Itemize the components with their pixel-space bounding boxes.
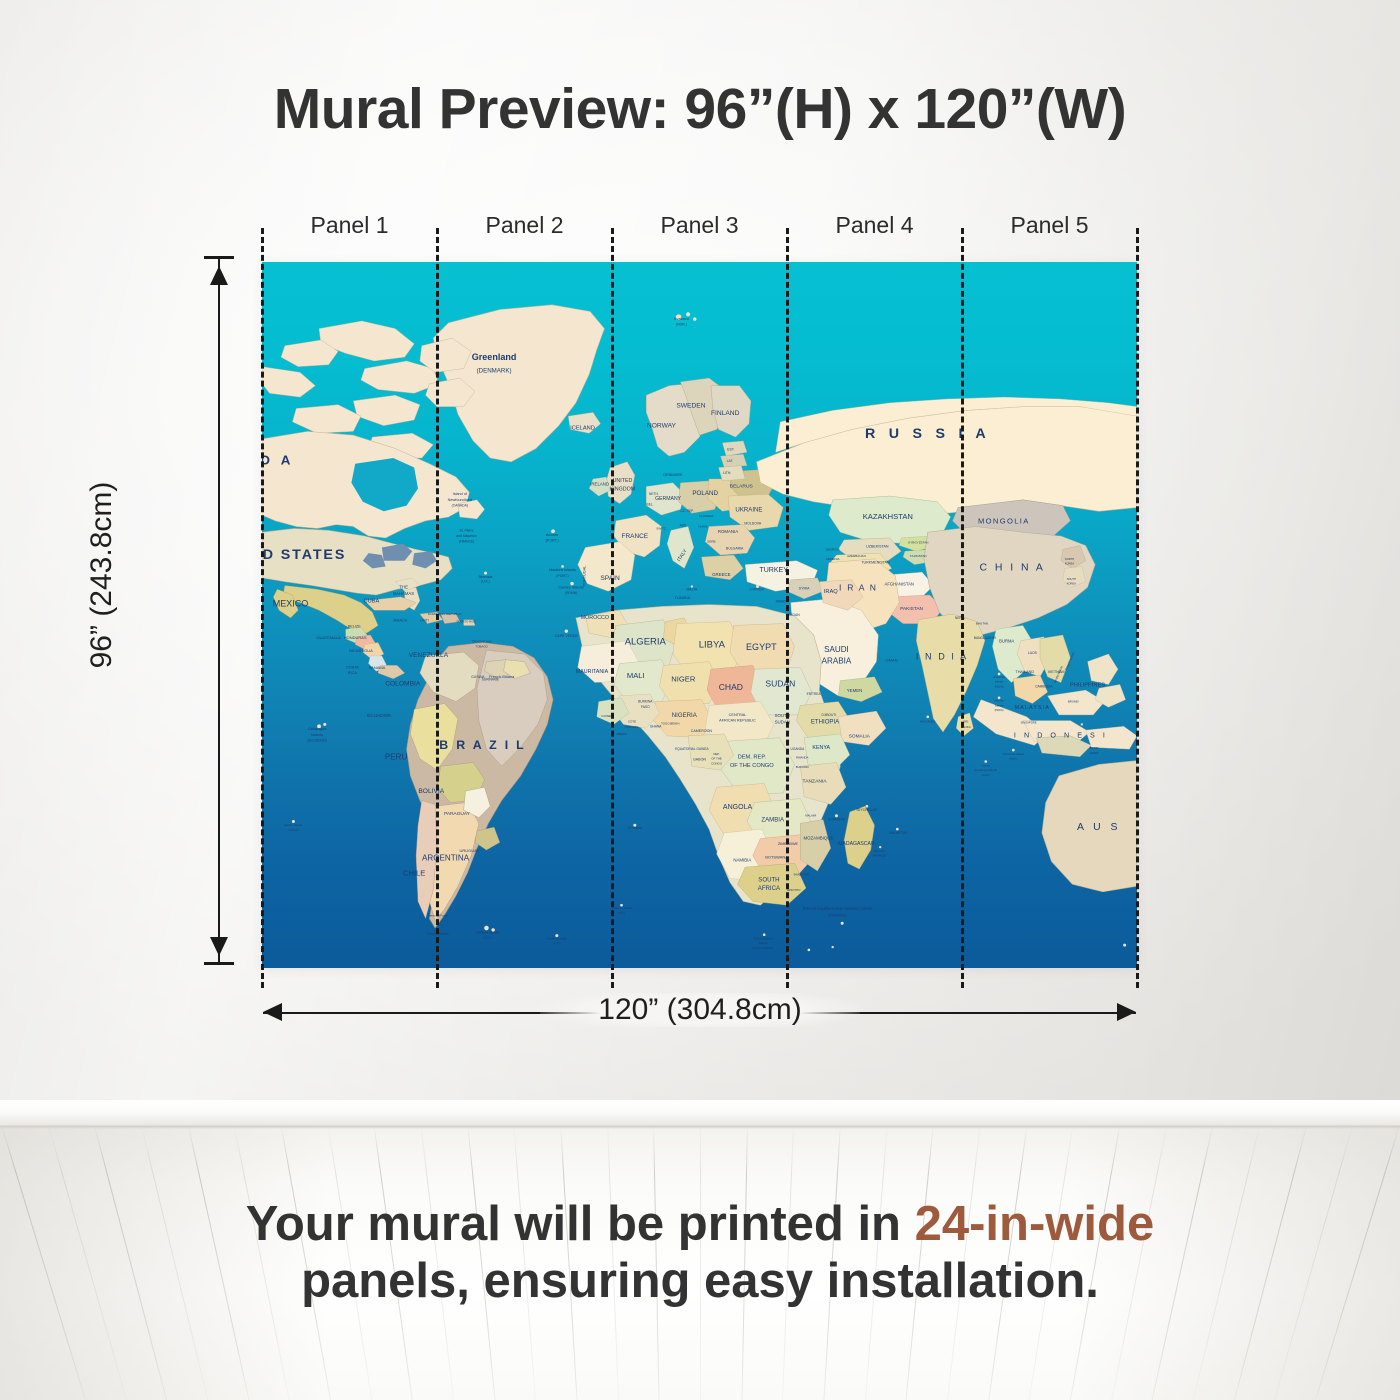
map-country-label: BOLIVIA xyxy=(418,788,444,795)
map-country-label: GUYANA xyxy=(471,675,485,679)
map-country-label: MOZAMBIQUE xyxy=(803,836,833,841)
height-dimension-cap-bottom xyxy=(204,962,234,965)
panel-divider-right-edge xyxy=(1136,228,1139,988)
map-country-label: COMOROS xyxy=(828,818,845,822)
map-country-label: KYRGYZSTAN xyxy=(908,541,928,545)
map-country-label: MAURITANIA xyxy=(576,669,609,675)
map-country-label: ZAMBIA xyxy=(761,816,785,823)
map-country-label: CAMEROON xyxy=(691,729,713,733)
map-country-label: MALAWI xyxy=(805,814,816,818)
map-country-label: (PORT.) xyxy=(546,539,559,543)
map-country-label: Islands xyxy=(995,680,1004,684)
map-country-label: SWEDEN xyxy=(676,403,705,410)
map-country-label: IRAQ xyxy=(824,589,838,595)
map-country-label: COTE xyxy=(628,720,636,724)
map-country-label: SOUTH xyxy=(1067,577,1076,581)
map-country-label: UKRAINE xyxy=(735,506,762,513)
map-country-label: TUNISIA xyxy=(675,595,691,600)
map-country-label: BELIZE xyxy=(348,624,362,628)
map-country-label: BENIN xyxy=(670,721,679,725)
map-country-label: TOGO xyxy=(661,721,670,725)
caption-line2: panels, ensuring easy installation. xyxy=(301,1254,1099,1308)
map-country-label: FINLAND xyxy=(711,410,740,417)
map-country-label: CZ. REP. xyxy=(681,509,694,513)
map-country-label: D A xyxy=(262,453,294,468)
map-country-label: SRI xyxy=(963,720,968,724)
panel-label-4: Panel 4 xyxy=(787,212,962,248)
map-country-label: (SOUTH AFRICA) xyxy=(753,946,775,950)
map-country-label: MALTA xyxy=(686,587,698,591)
map-country-label: BRUNEI xyxy=(1068,700,1079,704)
map-country-label: COLOMBIA xyxy=(385,680,421,687)
map-country-label: St. Pierre xyxy=(459,528,473,532)
mural-preview-image[interactable]: Greenland(DENMARK)Svalbard(NOR.)ICELANDD… xyxy=(262,262,1137,968)
map-country-label: NICARAGUA xyxy=(349,648,373,653)
map-country-label: Canary Islands xyxy=(558,585,583,589)
map-country-label: PAKISTAN xyxy=(900,606,923,612)
map-country-label: TRINIDAD AND xyxy=(472,640,492,644)
map-country-label: RWANDA xyxy=(796,756,809,760)
map-country-label: (FRANCE) xyxy=(872,854,886,858)
height-dimension-label: 96” (243.8cm) xyxy=(85,395,119,755)
map-country-label: I R A N xyxy=(839,582,878,592)
panel-divider-3 xyxy=(786,228,789,988)
map-country-label: DENMARK xyxy=(663,473,682,477)
map-country-label: BELARUS xyxy=(730,484,754,490)
map-country-label: Islands xyxy=(759,941,769,945)
panel-label-1: Panel 1 xyxy=(262,212,437,248)
map-country-label: SWAZILAND xyxy=(794,873,809,877)
map-country-label: SINGAPORE xyxy=(1021,720,1037,724)
map-country-label: Prince Edward xyxy=(754,936,773,940)
map-country-label: ECUADOR xyxy=(367,713,391,719)
map-country-label: Azores xyxy=(546,532,558,537)
map-country-label: UNITED xyxy=(613,478,633,484)
panel-label-5: Panel 5 xyxy=(962,212,1137,248)
map-country-label: LAT. xyxy=(727,459,734,463)
map-country-label: D'IVOIRE xyxy=(625,725,638,729)
map-country-label: NORWAY xyxy=(647,423,677,430)
map-country-label: TURKMENISTAN xyxy=(861,561,890,565)
map-country-label: (U.K.) xyxy=(553,941,560,945)
map-country-label: EQUATORIAL GUINEA xyxy=(675,747,709,751)
map-country-label: ROMANIA xyxy=(718,529,738,534)
map-country-label: Svalbard xyxy=(674,317,689,321)
map-country-label: KOREA xyxy=(1067,582,1077,586)
map-country-label: MAURITIUS xyxy=(889,831,907,835)
map-country-label: French Southern and Antarctic Lands xyxy=(803,906,872,911)
panel-divider-1 xyxy=(436,228,439,988)
map-country-label: PORTUGAL xyxy=(582,566,586,587)
map-country-label: VENEZUELA xyxy=(409,652,449,659)
map-country-label: KENYA xyxy=(812,745,830,751)
map-country-label: PANAMA xyxy=(369,665,386,670)
map-country-label: PERU xyxy=(385,753,408,762)
map-country-label: and Miquelon xyxy=(456,534,477,538)
width-dimension-label: 120” (304.8cm) xyxy=(540,993,860,1027)
map-country-label: CHAD xyxy=(719,682,743,692)
map-country-label: C H I N A xyxy=(980,562,1046,573)
map-country-label: THAILAND xyxy=(1015,670,1034,674)
map-country-label: TIMOR xyxy=(1090,746,1099,750)
panel-label-2: Panel 2 xyxy=(437,212,612,248)
map-country-label: BAHAMAS xyxy=(393,591,414,596)
map-country-label: LIBYA xyxy=(699,639,726,650)
map-country-label: (U.K.) xyxy=(618,911,625,915)
map-country-label: CONGO xyxy=(711,761,723,765)
map-country-label: Islands xyxy=(995,703,1004,707)
map-country-label: SLOVAKIA xyxy=(699,514,715,518)
map-country-label: RICA xyxy=(348,671,358,675)
map-country-label: BURKINA xyxy=(638,700,653,704)
map-country-label: FASO xyxy=(641,705,650,709)
map-country-label: (CHILE) xyxy=(288,828,298,832)
map-country-label: (Keeling) Islands xyxy=(974,768,997,772)
map-country-label: MALDIVES xyxy=(920,720,935,724)
map-country-label: ETHIOPIA xyxy=(811,718,840,725)
map-country-label: THE xyxy=(399,584,408,589)
map-country-label: Greenland xyxy=(472,352,517,362)
map-country-label: (PORT.) xyxy=(556,574,568,578)
panel-divider-2 xyxy=(611,228,614,988)
map-country-label: BANGLADESH xyxy=(974,636,997,640)
map-country-label: BEL. xyxy=(647,503,654,507)
map-country-label: MALAYSIA xyxy=(1015,705,1050,711)
map-country-label: PARAGUAY xyxy=(444,811,471,817)
map-country-label: SYRIA xyxy=(799,586,810,590)
map-country-label: Island of xyxy=(453,492,468,496)
map-country-label: KAZAKHSTAN xyxy=(863,512,913,521)
map-country-label: GERMANY xyxy=(655,496,681,502)
map-country-label: OF THE xyxy=(711,757,721,761)
map-country-label: TOBAGO xyxy=(476,644,489,648)
map-country-label: MOROCCO xyxy=(581,615,609,621)
page-title: Mural Preview: 96”(H) x 120”(W) xyxy=(0,76,1400,142)
map-country-label: ERITREA xyxy=(807,692,822,696)
map-country-label: Galapagos xyxy=(308,727,326,731)
map-country-label: HUNG. xyxy=(698,524,708,528)
map-country-label: PUERTO RICO xyxy=(457,620,477,624)
map-country-label: Nicobar xyxy=(995,699,1004,703)
map-country-label: UGANDA xyxy=(791,747,806,751)
map-country-label: South Georgia xyxy=(547,936,567,940)
map-country-label: (INDIA) xyxy=(995,708,1004,712)
map-country-label: CHILE xyxy=(403,869,425,878)
map-country-label: EST. xyxy=(727,447,734,451)
map-country-label: Andaman xyxy=(993,675,1005,679)
map-country-label: LESTE xyxy=(1090,751,1099,755)
map-country-label: POLAND xyxy=(692,490,718,497)
map-country-label: (DENMARK) xyxy=(477,367,512,374)
map-country-label: NAMIBIA xyxy=(733,857,751,862)
map-country-label: B R A Z I L xyxy=(439,738,526,752)
map-country-label: AUS. xyxy=(680,524,688,528)
map-country-label: SWITZ. xyxy=(656,526,666,530)
map-country-label: (ECUADOR) xyxy=(308,739,327,743)
map-country-label: ARMENIA xyxy=(826,557,841,561)
map-country-label: (AUS.) xyxy=(1009,757,1017,761)
map-country-label: St Helena xyxy=(628,826,642,830)
panel-label-3: Panel 3 xyxy=(612,212,787,248)
map-country-label: SEYCHELLES xyxy=(856,808,877,812)
map-country-label: AFGHANISTAN xyxy=(885,582,914,587)
map-country-label: NIGERIA xyxy=(672,712,698,719)
map-country-label: Bermuda xyxy=(479,575,493,579)
map-country-label: LITH. xyxy=(723,471,731,475)
map-country-label: (NOR.) xyxy=(676,323,687,327)
map-country-label: JAMAICA xyxy=(393,619,408,623)
map-country-label: ARGENTINA xyxy=(422,853,470,862)
map-country-label: (FRANCE) xyxy=(828,914,847,918)
map-country-label: (SPAIN) xyxy=(565,591,577,595)
map-country-label: KOREA xyxy=(1065,562,1075,566)
map-country-label: CENTRAL xyxy=(729,713,747,717)
map-country-label: NETH. xyxy=(649,492,659,496)
panel-divider-4 xyxy=(961,228,964,988)
map-country-label: EGYPT xyxy=(746,642,777,652)
map-country-label: BURMA xyxy=(999,639,1014,644)
map-country-label: COSTA xyxy=(346,665,359,669)
wall-baseboard xyxy=(0,1100,1400,1126)
map-country-label: SOUTH xyxy=(758,876,779,883)
map-country-label: SAUDI xyxy=(824,645,849,654)
height-dimension-line xyxy=(218,258,220,964)
map-country-label: OMAN xyxy=(886,658,898,663)
map-country-label: UZBEKISTAN xyxy=(866,544,889,548)
map-country-label: Christmas Island xyxy=(1003,752,1025,756)
map-country-label: AFRICAN REPUBLIC xyxy=(719,719,756,723)
map-country-label: ARABIA xyxy=(822,657,852,666)
map-country-label: SUDAN xyxy=(765,678,795,688)
panel-label-row: Panel 1 Panel 2 Panel 3 Panel 4 Panel 5 xyxy=(262,212,1137,248)
map-country-label: GABON xyxy=(693,758,706,762)
map-country-label: BURUNDI xyxy=(796,765,809,769)
map-country-label: (INDIA) xyxy=(995,684,1004,688)
map-country-label: MALI xyxy=(627,671,645,680)
map-country-label: URUGUAY xyxy=(460,848,480,853)
map-country-label: Falkland Islands xyxy=(476,931,500,935)
map-country-label: Cocos xyxy=(981,763,990,767)
map-country-label: SOMALIA xyxy=(849,734,871,740)
installation-caption: Your mural will be printed in 24-in-wide… xyxy=(100,1196,1300,1310)
map-country-label: LIBERIA xyxy=(616,732,627,736)
map-country-label: HAITI xyxy=(421,619,429,623)
map-country-label: MOLDOVA xyxy=(744,522,762,526)
map-country-label: AZERBAIJAN xyxy=(847,554,866,558)
map-country-label: Easter Island xyxy=(285,823,303,827)
map-country-label: AFRICA xyxy=(758,885,781,892)
map-country-label: (FRANCE) xyxy=(459,540,474,544)
height-arrow-up-icon xyxy=(210,266,228,285)
map-country-label: LAOS xyxy=(1028,651,1038,655)
width-arrow-right-icon xyxy=(1117,1003,1136,1021)
map-country-label: A U S xyxy=(1077,822,1121,833)
world-map-graphic: Greenland(DENMARK)Svalbard(NOR.)ICELANDD… xyxy=(262,262,1137,968)
map-country-label: ALGERIA xyxy=(625,636,667,647)
map-country-label: BHUTAN xyxy=(976,622,988,626)
map-country-label: YEMEN xyxy=(847,688,863,693)
map-country-label: MONGOLIA xyxy=(978,517,1030,526)
map-country-label: I N D O N E S I xyxy=(1014,732,1108,740)
map-country-label: R U S S I A xyxy=(865,426,990,442)
map-country-label: CAMBODIA xyxy=(1035,684,1053,688)
map-country-label: MEXICO xyxy=(273,598,309,608)
map-country-label: CUBA xyxy=(363,599,379,605)
caption-line1-before: Your mural will be printed in xyxy=(246,1197,915,1251)
map-country-label: OF THE CONGO xyxy=(730,763,774,769)
map-country-label: Madeira Islands xyxy=(549,568,576,572)
map-country-label: Newfoundland xyxy=(448,498,472,502)
map-country-label: TAJIKISTAN xyxy=(910,554,927,558)
map-country-label: DOMINICAN REPUBLIC xyxy=(428,612,462,616)
map-country-label: TANZANIA xyxy=(803,778,828,784)
map-country-label: DJIBOUTI xyxy=(822,713,837,717)
map-country-label: GREECE xyxy=(712,572,730,577)
width-arrow-left-icon xyxy=(263,1003,282,1021)
map-country-label: MADAGASCAR xyxy=(838,841,875,847)
map-country-label: BOTSWANA xyxy=(765,855,788,860)
map-country-label: HONDURAS xyxy=(344,635,367,640)
map-country-label: NIGER xyxy=(671,675,696,684)
map-country-label: ITED STATES xyxy=(262,547,346,563)
map-country-label: IRELAND xyxy=(590,482,609,487)
map-country-label: (CANADA) xyxy=(452,504,468,508)
map-country-label: (AUS.) xyxy=(982,773,991,777)
map-country-label: PHILIPPINES xyxy=(1070,682,1105,688)
map-country-label: ANGOLA xyxy=(723,804,753,811)
map-country-label: Islands xyxy=(311,733,323,737)
map-country-label: CAPE VERDE xyxy=(555,634,579,638)
map-country-label: GUATEMALA xyxy=(316,635,341,640)
map-country-label: Réunion xyxy=(874,849,886,853)
panel-divider-left-edge xyxy=(261,228,264,988)
caption-accent-24-in-wide: 24-in-wide xyxy=(915,1197,1155,1251)
map-country-label: LESOTHO xyxy=(787,888,801,892)
map-country-label: CYPRUS xyxy=(749,587,764,591)
map-country-label: REP. xyxy=(713,752,719,756)
map-country-label: SERB. xyxy=(707,540,716,544)
map-country-label: BULGARIA xyxy=(726,546,744,550)
map-country-label: NORTH xyxy=(1065,557,1074,561)
map-country-label: GEORGIA xyxy=(826,547,841,551)
height-arrow-down-icon xyxy=(210,937,228,956)
map-country-label: (U.K.) xyxy=(483,936,491,940)
map-country-label: TURKEY xyxy=(759,567,788,574)
map-country-label: DEM. REP. xyxy=(738,755,767,761)
map-country-label: (U.K.) xyxy=(481,580,489,584)
map-country-label: FRANCE xyxy=(622,533,649,540)
map-country-label: ICELAND xyxy=(570,425,595,431)
